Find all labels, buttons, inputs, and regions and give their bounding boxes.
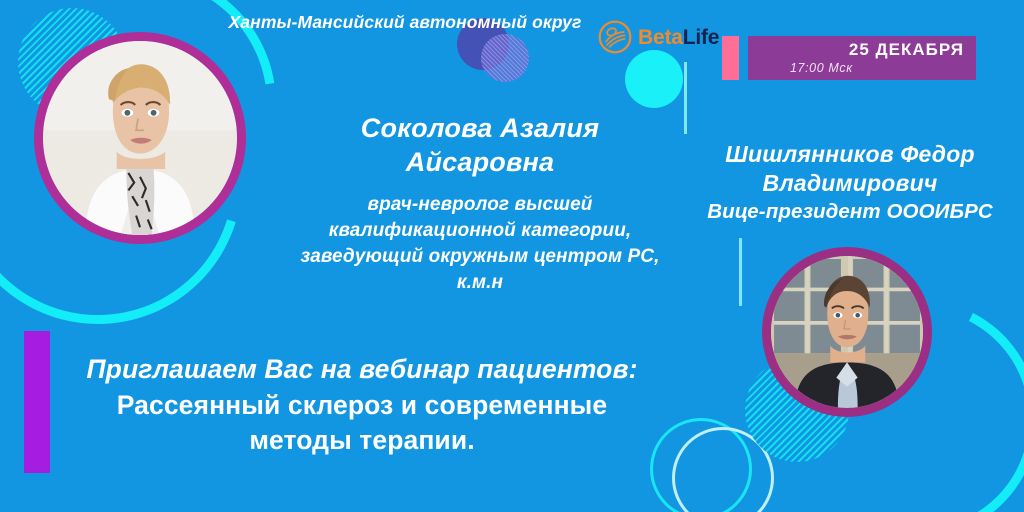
purple-circle-decoration-b: [481, 34, 529, 82]
logo-text-beta: Beta: [638, 26, 683, 49]
speaker-1-name-line-2: Айсаровна: [278, 146, 682, 180]
speaker-1-info: Соколова Азалия Айсаровна врач-невролог …: [278, 112, 682, 296]
logo-text-life: Life: [683, 26, 720, 49]
portrait-photo-speaker-2: [771, 256, 923, 408]
region-title: Ханты-Мансийский автономный округ: [210, 12, 600, 33]
speaker-2-role: Вице-президент ОООИБРС: [676, 199, 1024, 226]
speaker-2-name-line-1: Шишлянников Федор: [676, 140, 1024, 169]
speaker-2-role-line-1: Вице-президент ОООИБРС: [676, 199, 1024, 226]
speaker-1-role-line-2: квалификационной категории,: [278, 218, 682, 244]
speaker-1-role: врач-невролог высшей квалификационной ка…: [278, 192, 682, 297]
cyan-ring-decoration-b: [672, 427, 774, 512]
violet-bar-decoration: [24, 331, 50, 473]
speaker-1-role-line-1: врач-невролог высшей: [278, 192, 682, 218]
time-text: 17:00 Мск: [790, 61, 853, 75]
date-text: 25 ДЕКАБРЯ: [849, 40, 964, 60]
invitation-line-1: Приглашаем Вас на вебинар пациентов:: [62, 352, 662, 388]
speaker-1-role-line-4: к.м.н: [278, 270, 682, 296]
date-badge: 25 ДЕКАБРЯ 17:00 Мск: [748, 36, 976, 80]
betalife-wordmark: BetaLife: [638, 27, 719, 48]
betalife-logo: BetaLife: [598, 20, 719, 54]
cyan-line-decoration-upper: [684, 62, 687, 134]
speaker-2-name-line-2: Владимирович: [676, 169, 1024, 198]
cyan-dot-decoration: [625, 50, 683, 108]
cyan-ring-decoration-a: [650, 418, 752, 512]
speaker-2-name: Шишлянников Федор Владимирович: [676, 140, 1024, 199]
cyan-line-decoration-lower: [739, 238, 742, 306]
speaker-1-name: Соколова Азалия Айсаровна: [278, 112, 682, 180]
webinar-announcement-poster: Ханты-Мансийский автономный округ BetaLi…: [0, 0, 1024, 512]
betalife-mark-icon: [598, 20, 632, 54]
speaker-1-role-line-3: заведующий окружным центром РС,: [278, 244, 682, 270]
pink-bar-accent: [722, 36, 739, 80]
invitation-line-2: Рассеянный склероз и современные: [62, 388, 662, 424]
speaker-1-name-line-1: Соколова Азалия: [278, 112, 682, 146]
portrait-photo-speaker-1: [43, 41, 237, 235]
invitation-text: Приглашаем Вас на вебинар пациентов: Рас…: [62, 352, 662, 459]
speaker-2-info: Шишлянников Федор Владимирович Вице-през…: [676, 140, 1024, 226]
invitation-line-3: методы терапии.: [62, 423, 662, 459]
